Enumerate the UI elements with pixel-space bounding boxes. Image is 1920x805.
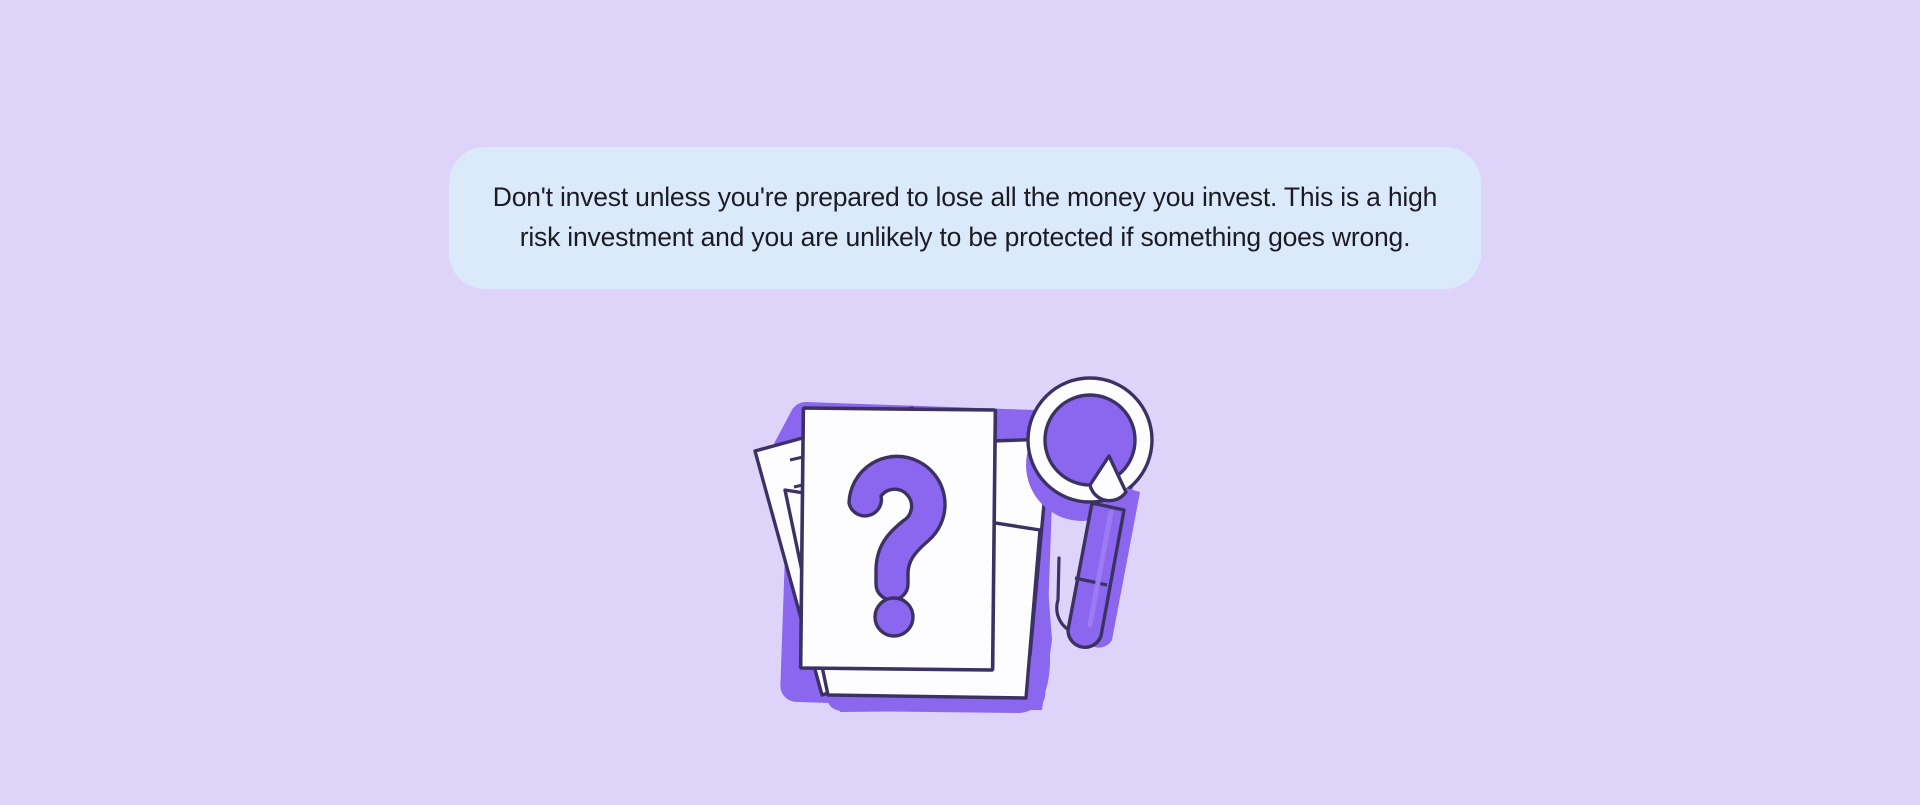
question-mark-dot bbox=[875, 598, 913, 636]
illustration-svg bbox=[730, 320, 1170, 730]
coffee-cup-liquid bbox=[1045, 395, 1135, 485]
risk-warning-banner: Don't invest unless you're prepared to l… bbox=[449, 147, 1481, 289]
page-root: Don't invest unless you're prepared to l… bbox=[0, 0, 1920, 805]
question-papers-illustration bbox=[730, 320, 1170, 730]
risk-warning-text: Don't invest unless you're prepared to l… bbox=[491, 177, 1439, 257]
